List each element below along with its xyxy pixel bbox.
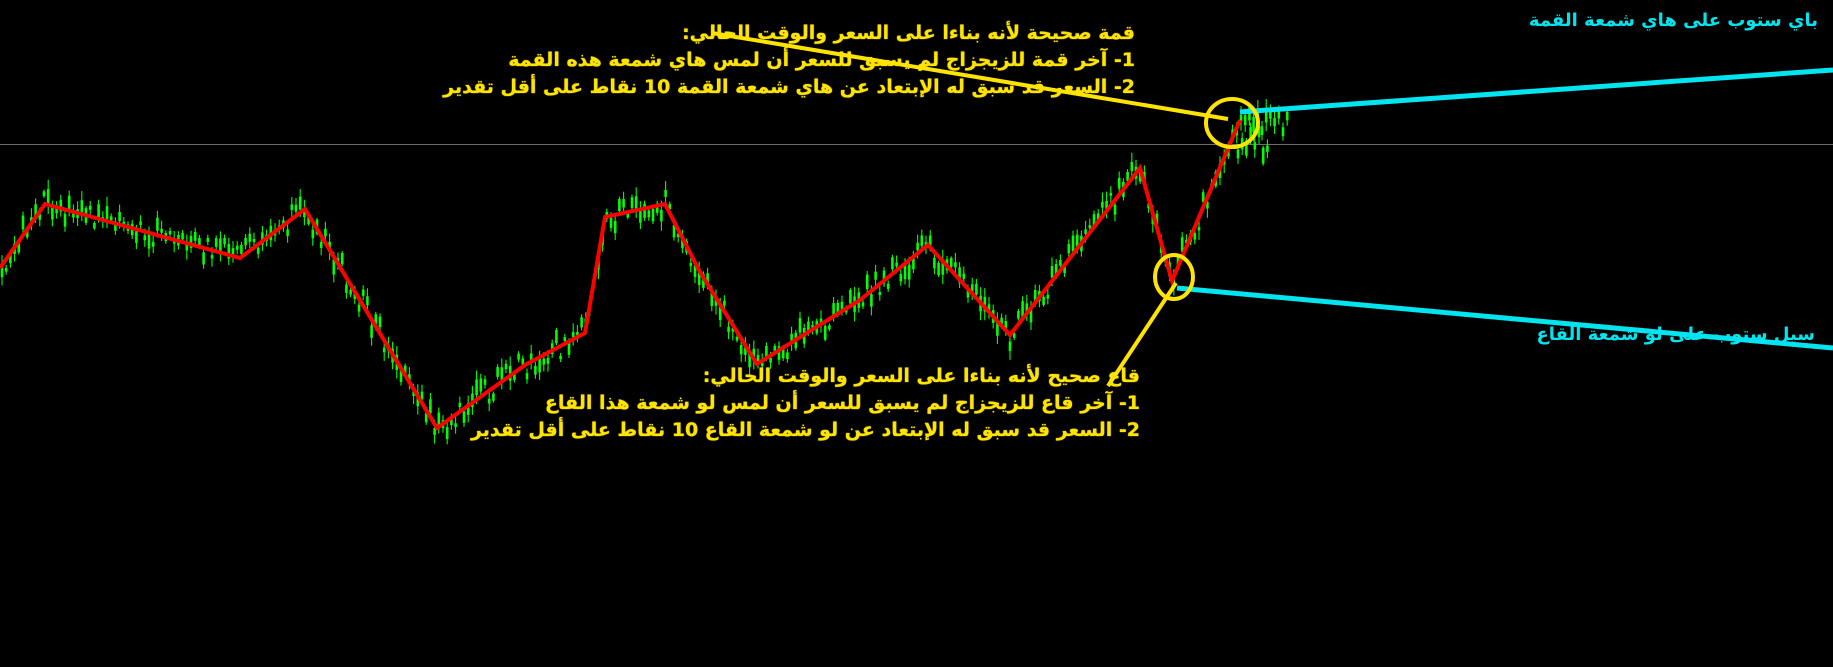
top-annotation-line-2: 1- آخر قمة للزيجزاج لم يسبق للسعر أن لمس… xyxy=(443,47,1135,74)
bottom-annotation-line-1: قاع صحيح لأنه بناءا على السعر والوقت الح… xyxy=(471,363,1140,390)
top-annotation-line-3: 2- السعر قد سبق له الإبتعاد عن هاي شمعة … xyxy=(443,74,1135,101)
bottom-annotation-line-3: 2- السعر قد سبق له الإبتعاد عن لو شمعة ا… xyxy=(471,417,1140,444)
top-annotation-block: قمة صحيحة لأنه بناءا على السعر والوقت ال… xyxy=(443,20,1135,101)
bottom-annotation-block: قاع صحيح لأنه بناءا على السعر والوقت الح… xyxy=(471,363,1140,444)
buy-stop-label: باي ستوب على هاي شمعة القمة xyxy=(1529,8,1818,34)
bottom-annotation-line-2: 1- آخر قاع للزيجزاج لم يسبق للسعر أن لمس… xyxy=(471,390,1140,417)
buy-stop-line xyxy=(1240,70,1833,112)
top-annotation-line-1: قمة صحيحة لأنه بناءا على السعر والوقت ال… xyxy=(443,20,1135,47)
sell-stop-label: سيل ستوب على لو شمعة القاع xyxy=(1536,322,1815,348)
chart-screenshot: قمة صحيحة لأنه بناءا على السعر والوقت ال… xyxy=(0,0,1833,667)
